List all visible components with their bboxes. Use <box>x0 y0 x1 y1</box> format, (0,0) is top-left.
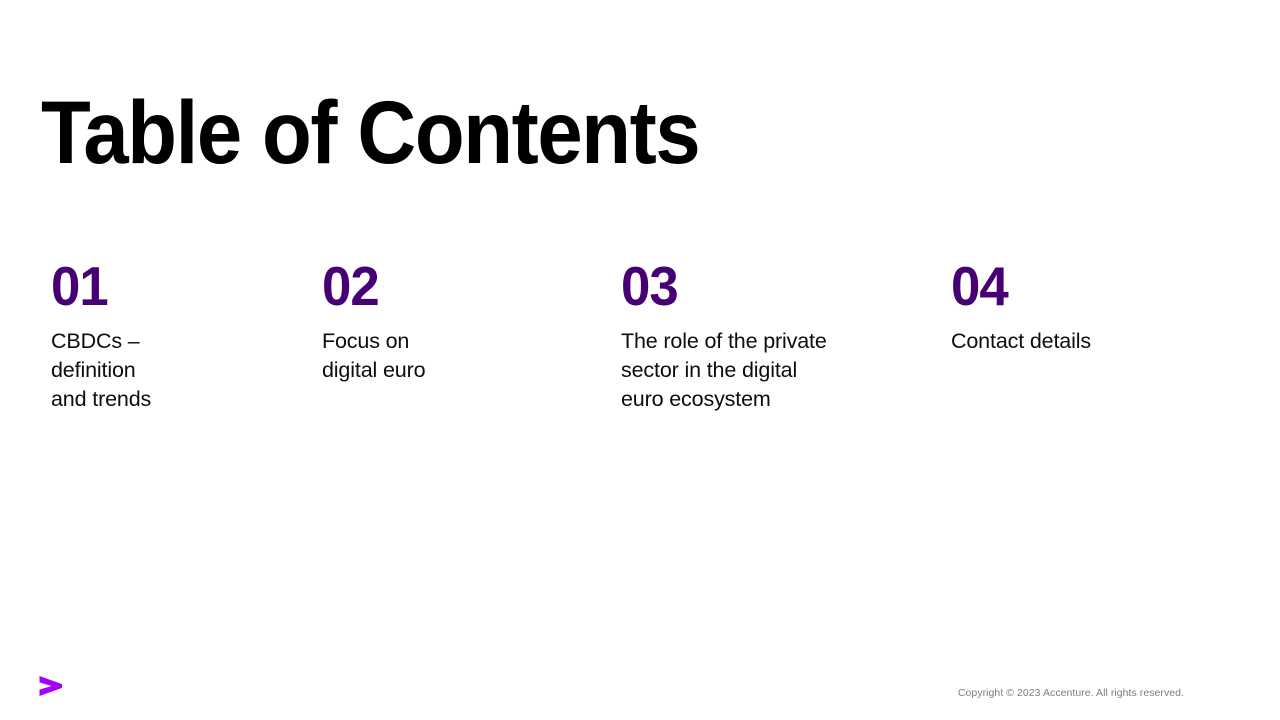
toc-entry-number: 03 <box>621 258 899 315</box>
toc-entry-number: 01 <box>51 258 291 315</box>
toc-entry-number: 04 <box>951 258 1229 315</box>
accenture-greater-than-icon <box>38 672 64 700</box>
toc-entry-01[interactable]: 01 CBDCs – definition and trends <box>51 258 301 414</box>
toc-entry-label: The role of the private sector in the di… <box>621 327 911 414</box>
toc-entry-02[interactable]: 02 Focus on digital euro <box>322 258 592 385</box>
toc-entry-number: 02 <box>322 258 581 315</box>
toc-entry-03[interactable]: 03 The role of the private sector in the… <box>621 258 911 414</box>
copyright-text: Copyright © 2023 Accenture. All rights r… <box>958 686 1184 700</box>
slide-canvas: Table of Contents 01 CBDCs – definition … <box>0 0 1280 720</box>
toc-entry-label: Contact details <box>951 327 1241 356</box>
page-title: Table of Contents <box>41 84 699 180</box>
toc-entry-label: CBDCs – definition and trends <box>51 327 301 414</box>
table-of-contents: 01 CBDCs – definition and trends 02 Focu… <box>0 258 1280 438</box>
toc-entry-04[interactable]: 04 Contact details <box>951 258 1241 356</box>
toc-entry-label: Focus on digital euro <box>322 327 592 385</box>
